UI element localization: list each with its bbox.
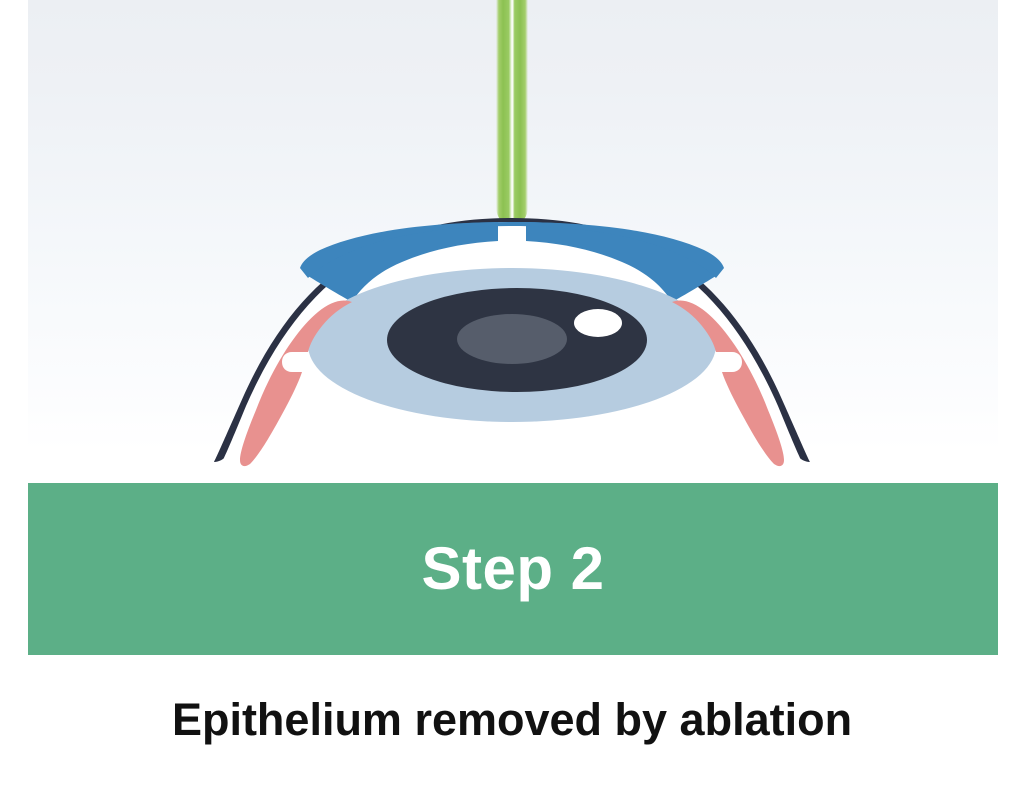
illustration-panel xyxy=(28,0,998,480)
eye-cross-section-illustration xyxy=(28,0,998,480)
specular-highlight-icon xyxy=(574,309,622,337)
laser-beam-icon xyxy=(496,0,528,224)
caption-area: Epithelium removed by ablation xyxy=(0,655,1024,785)
slide-root: Step 2 Epithelium removed by ablation xyxy=(0,0,1024,785)
caption-text: Epithelium removed by ablation xyxy=(172,695,852,745)
step-banner: Step 2 xyxy=(28,483,998,655)
pupil-core-shape xyxy=(457,314,567,364)
step-banner-label: Step 2 xyxy=(421,539,604,599)
